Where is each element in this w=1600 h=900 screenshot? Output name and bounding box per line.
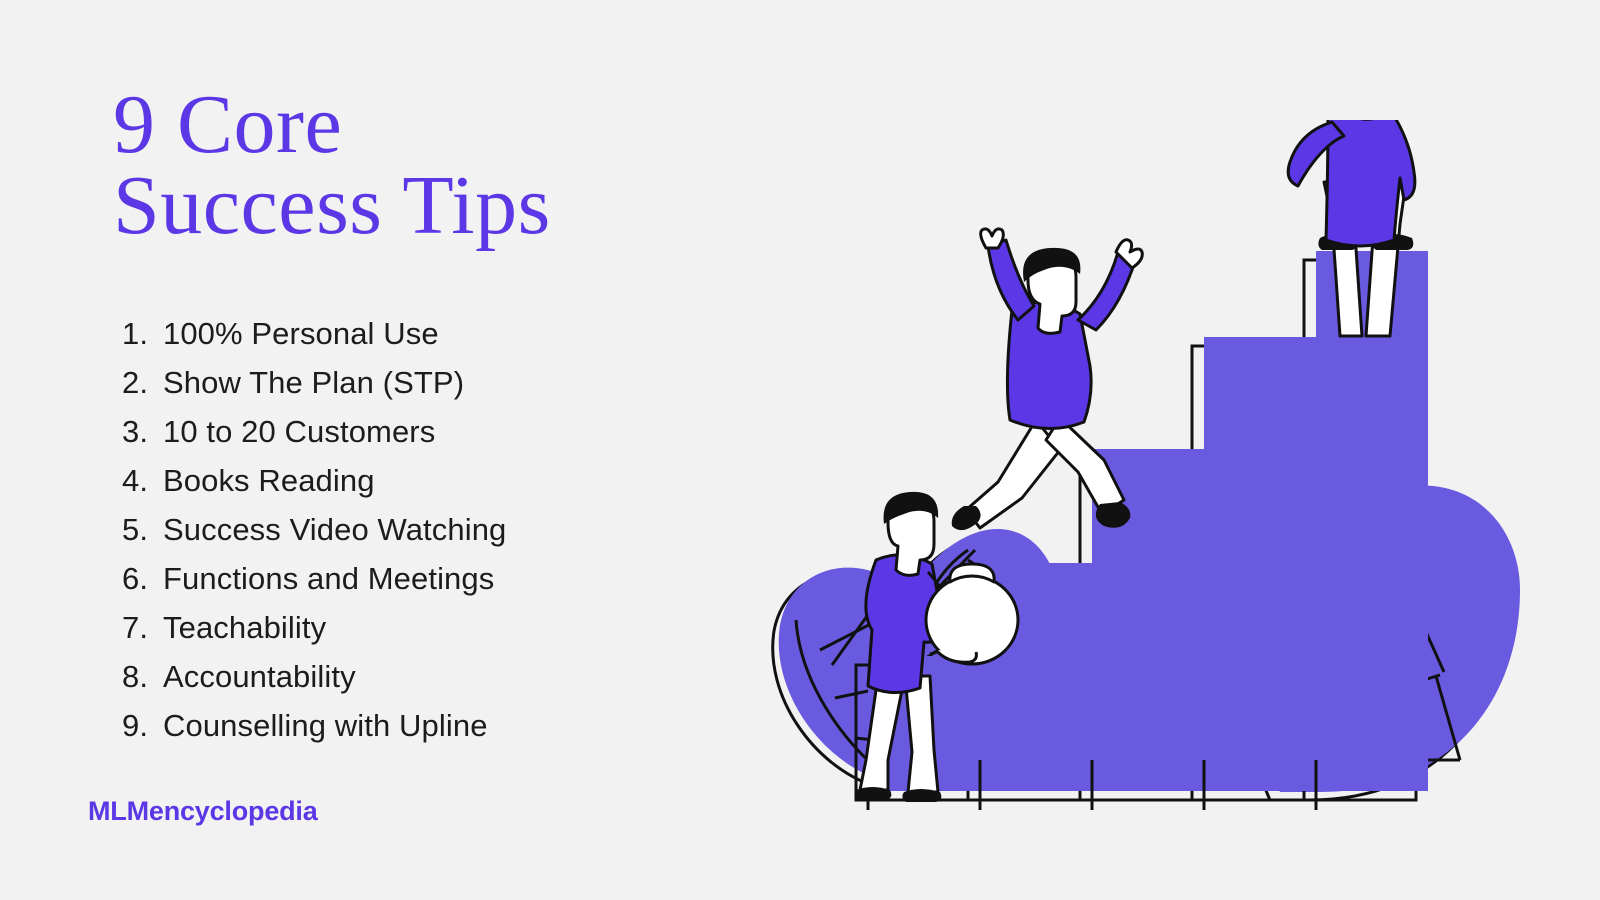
list-item-label: Show The Plan (STP)	[163, 365, 722, 401]
list-item-number: 4.	[122, 463, 163, 499]
list-item-number: 8.	[122, 659, 163, 695]
list-item-number: 1.	[122, 316, 163, 352]
list-item-label: Accountability	[163, 659, 722, 695]
bar-fill-4	[1204, 337, 1316, 791]
list-item: 4.Books Reading	[122, 463, 722, 512]
list-item: 1.100% Personal Use	[122, 316, 722, 365]
list-item-number: 6.	[122, 561, 163, 597]
list-item-number: 7.	[122, 610, 163, 646]
list-item: 8.Accountability	[122, 659, 722, 708]
list-item-label: Functions and Meetings	[163, 561, 722, 597]
figure2-hand-left	[981, 229, 1004, 248]
list-item-label: 10 to 20 Customers	[163, 414, 722, 450]
page-title: 9 Core Success Tips	[113, 84, 733, 247]
list-item-label: 100% Personal Use	[163, 316, 722, 352]
figure2-back-leg	[966, 420, 1060, 528]
list-item-number: 3.	[122, 414, 163, 450]
list-item: 6.Functions and Meetings	[122, 561, 722, 610]
list-item-label: Success Video Watching	[163, 512, 722, 548]
illustration-climbing-steps	[760, 120, 1520, 840]
content-column: 9 Core Success Tips 1.100% Personal Use2…	[0, 0, 760, 900]
list-item-number: 5.	[122, 512, 163, 548]
figure2-shoe-back	[952, 506, 981, 530]
list-item: 3.10 to 20 Customers	[122, 414, 722, 463]
list-item-label: Books Reading	[163, 463, 722, 499]
figure-middle-celebrating	[952, 229, 1143, 530]
success-tips-list: 1.100% Personal Use2.Show The Plan (STP)…	[122, 316, 722, 757]
poster-canvas: 9 Core Success Tips 1.100% Personal Use2…	[0, 0, 1600, 900]
list-item-label: Teachability	[163, 610, 722, 646]
figure1-shoe-front	[902, 789, 941, 802]
list-item: 7.Teachability	[122, 610, 722, 659]
figure1-shoe-back	[854, 787, 891, 800]
figure2-shoe-front	[1096, 502, 1130, 528]
list-item-number: 9.	[122, 708, 163, 744]
list-item: 5.Success Video Watching	[122, 512, 722, 561]
list-item: 9.Counselling with Upline	[122, 708, 722, 757]
list-item-label: Counselling with Upline	[163, 708, 722, 744]
list-item: 2.Show The Plan (STP)	[122, 365, 722, 414]
brand-wordmark: MLMencyclopedia	[88, 796, 318, 827]
list-item-number: 2.	[122, 365, 163, 401]
